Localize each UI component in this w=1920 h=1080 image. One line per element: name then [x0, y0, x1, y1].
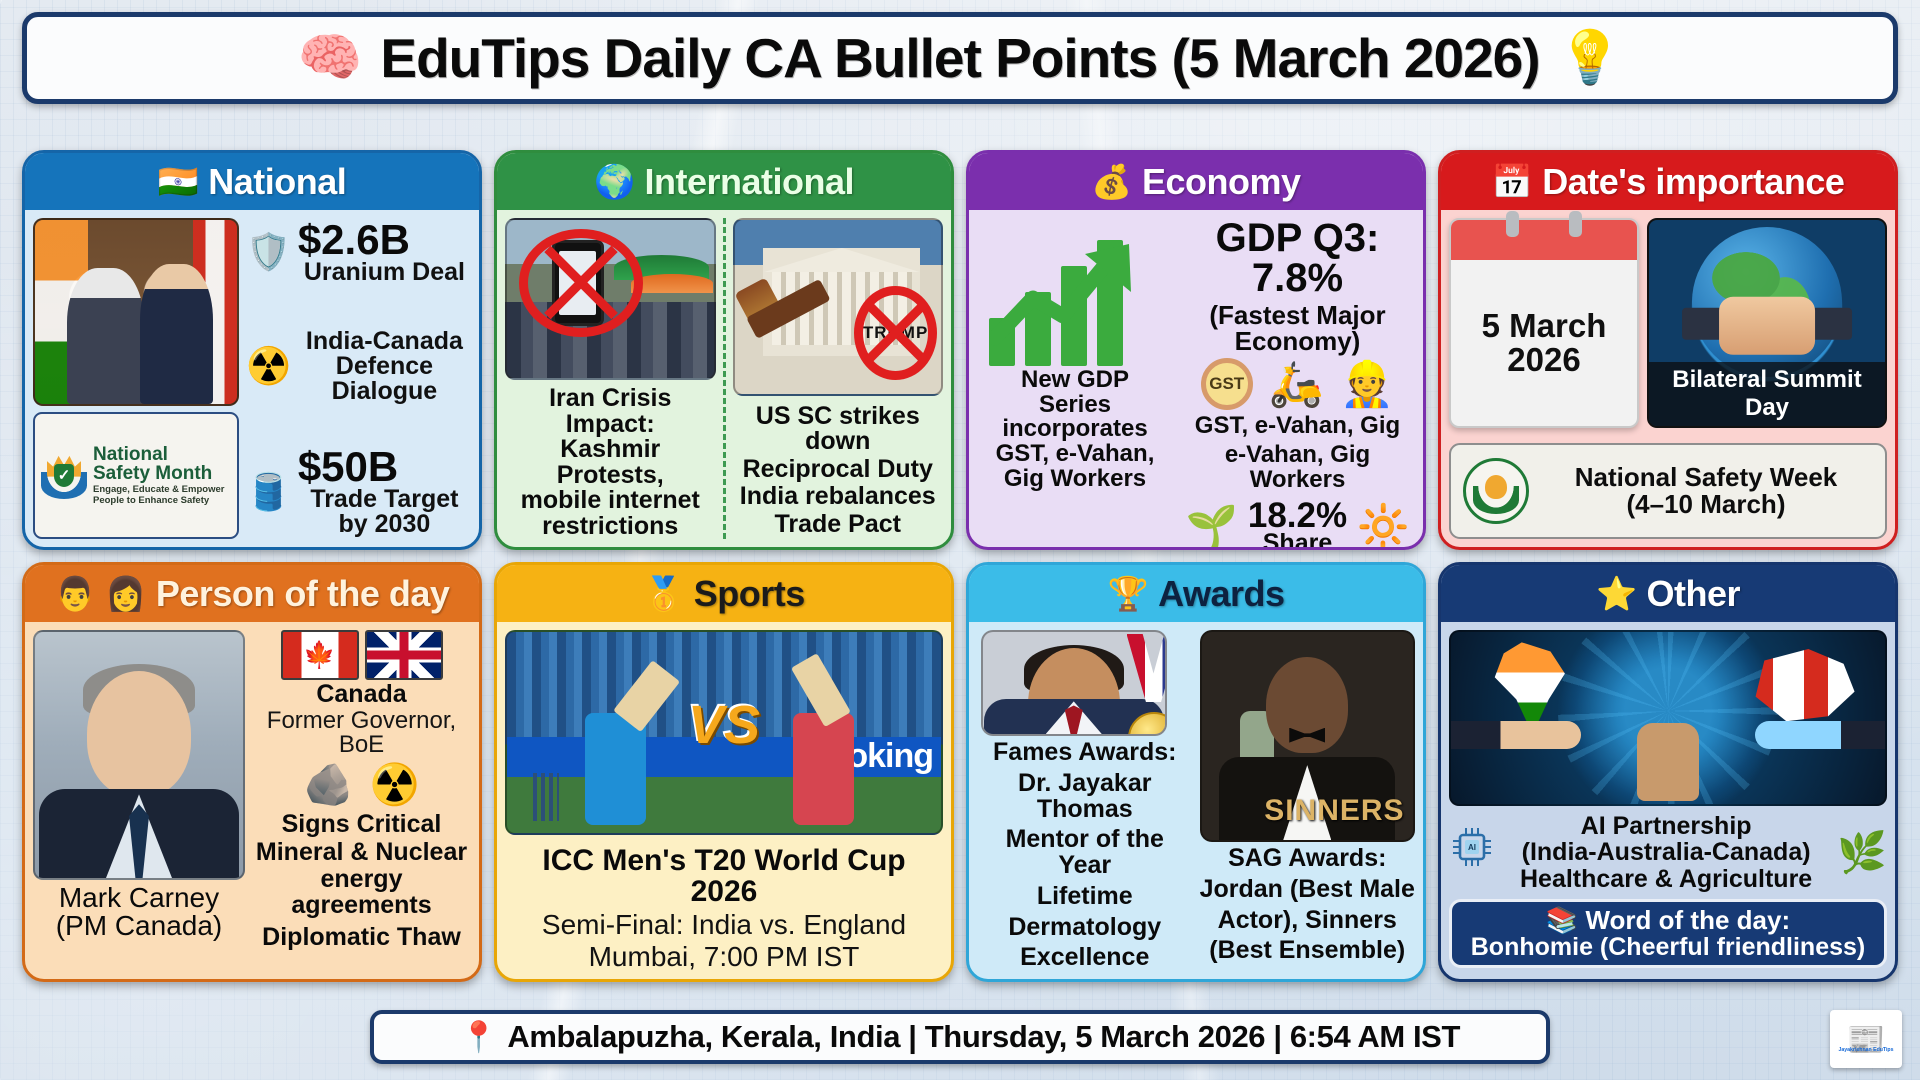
uranium-value: $2.6B	[298, 220, 471, 260]
cards-grid: 🇮🇳 National ✓	[22, 150, 1898, 982]
word-of-day-label: Word of the day:	[1585, 905, 1790, 935]
card-title-date: Date's importance	[1542, 161, 1844, 203]
card-header-sports: 🥇 Sports	[497, 565, 951, 622]
mineral-icon: 🪨	[304, 761, 354, 808]
solar-panel-icon: 🔆	[1357, 503, 1409, 550]
card-body-person: Mark Carney (PM Canada) Canada Former Go…	[25, 622, 479, 979]
card-title-economy: Economy	[1142, 161, 1301, 203]
shield-icon: 🛡️	[246, 234, 291, 270]
trophy-icon: 🏆	[1108, 577, 1149, 610]
brand-logo: 📰 Jayakrishnan EduTips	[1830, 1010, 1902, 1068]
sports-line2: Semi-Final: India vs. England	[505, 910, 943, 939]
person-role: (PM Canada)	[33, 912, 245, 940]
card-title-international: International	[645, 161, 855, 203]
brand-name: Jayakrishnan EduTips	[1839, 1047, 1894, 1053]
national-fact-uranium: 🛡️ $2.6B Uranium Deal	[246, 220, 471, 285]
eco-left-line3: incorporates	[996, 417, 1155, 442]
card-header-economy: 💰 Economy	[969, 153, 1423, 210]
card-date-importance[interactable]: 📅 Date's importance 5 March 2026	[1438, 150, 1898, 550]
word-of-day-value: Bonhomie (Cheerful friendliness)	[1460, 934, 1876, 961]
cards-row-1: 🇮🇳 National ✓	[22, 150, 1898, 550]
economy-left-column: New GDP Series incorporates GST, e-Vahan…	[977, 218, 1173, 539]
international-right-caption: US SC strikes down Reciprocal Duty India…	[733, 402, 944, 539]
cricket-match-photo: Booking VS	[505, 630, 943, 835]
seedling-icon: 🌱	[1186, 503, 1238, 550]
trade-label-2: by 2030	[298, 512, 471, 537]
globe-icon: 🌍	[594, 165, 635, 198]
intl-right-line1: US SC strikes down	[733, 404, 944, 455]
card-body-date: 5 March 2026 Bilateral Summit Day	[1441, 210, 1895, 547]
nuclear-icon: ☢️	[370, 761, 420, 808]
card-awards[interactable]: 🏆 Awards Fames Awards:	[966, 562, 1426, 982]
location-pin-icon: 📍	[460, 1020, 497, 1055]
defence-label-1: India-Canada	[298, 329, 471, 354]
awards-left-caption: Fames Awards: Dr. Jayakar Thomas Mentor …	[977, 740, 1193, 971]
eco-left-line1: New GDP	[996, 368, 1155, 393]
national-safety-month-badge: ✓ National Safety Month Engage, Educate …	[33, 412, 239, 539]
calendar-date-line1: 5 March	[1482, 309, 1607, 343]
calendar-icon: 📅	[1492, 165, 1533, 198]
economy-icons-row: GST 🛵 👷	[1180, 358, 1415, 410]
svg-text:AI: AI	[1468, 843, 1476, 852]
awards-right-l4: (Best Ensemble)	[1200, 938, 1416, 964]
radiation-icon: ☢️	[246, 348, 291, 384]
awards-right-l3: Actor), Sinners	[1200, 908, 1416, 934]
page-title: EduTips Daily CA Bullet Points (5 March …	[380, 26, 1539, 90]
awards-right: SINNERS SAG Awards: Jordan (Best Male Ac…	[1200, 630, 1416, 971]
intl-left-line1: Iran Crisis Impact:	[505, 386, 716, 437]
pipeline-icon: 🛢️	[246, 474, 291, 510]
date-top-row: 5 March 2026 Bilateral Summit Day	[1449, 218, 1887, 428]
word-of-the-day-box: 📚 Word of the day: Bonhomie (Cheerful fr…	[1449, 899, 1887, 968]
national-left-column: ✓ National Safety Month Engage, Educate …	[33, 218, 239, 539]
person-subtitle: Former Governor, BoE	[252, 709, 471, 757]
scooter-icon: 🛵	[1269, 358, 1324, 410]
person-thaw-label: Diplomatic Thaw	[262, 923, 461, 952]
card-title-other: Other	[1647, 573, 1741, 615]
safety-shield-icon: ✓	[41, 453, 87, 499]
trade-label-1: Trade Target	[298, 487, 471, 512]
other-line1: AI Partnership	[1499, 813, 1833, 839]
card-sports[interactable]: 🥇 Sports Booking VS ICC Men's T20 World …	[494, 562, 954, 982]
person-right-column: Canada Former Governor, BoE 🪨 ☢️ Signs C…	[252, 630, 471, 971]
star-icon: ⭐	[1596, 577, 1637, 610]
person-name: Mark Carney	[33, 884, 245, 912]
awards-right-l2: Jordan (Best Male	[1200, 877, 1416, 903]
safety-week-logo-icon	[1463, 458, 1529, 524]
card-title-awards: Awards	[1158, 573, 1284, 615]
gdp-subtext: (Fastest Major Economy)	[1180, 302, 1415, 354]
gig-worker-icon: 👷	[1340, 358, 1395, 410]
jayakar-thomas-portrait	[981, 630, 1167, 736]
canada-flag-icon	[281, 630, 359, 680]
intl-left-line2: Kashmir Protests,	[505, 437, 716, 488]
sinners-label: SINNERS	[1264, 794, 1404, 828]
person-note-line3: energy agreements	[252, 867, 471, 918]
michael-b-jordan-photo: SINNERS	[1200, 630, 1416, 842]
person-icons-row: 🪨 ☢️	[304, 761, 420, 808]
economy-mid-line2: e-Vahan, Gig Workers	[1180, 443, 1415, 493]
national-facts-list: 🛡️ $2.6B Uranium Deal ☢️ India-Canada De…	[246, 218, 471, 539]
person-note-line2: Mineral & Nuclear	[256, 840, 467, 866]
medal-icon: 🥇	[643, 577, 684, 610]
woman-icon: 👩	[105, 577, 146, 610]
other-line2: (India-Australia-Canada)	[1499, 839, 1833, 865]
card-international[interactable]: 🌍 International Iran Crisis Impact:	[494, 150, 954, 550]
card-header-date: 📅 Date's importance	[1441, 153, 1895, 210]
defence-label-2: Defence Dialogue	[298, 354, 471, 404]
international-left-caption: Iran Crisis Impact: Kashmir Protests, mo…	[505, 386, 716, 539]
card-header-awards: 🏆 Awards	[969, 565, 1423, 622]
nsm-line1: National	[93, 444, 168, 465]
growth-chart-icon	[985, 218, 1165, 366]
page-title-bar: 🧠 EduTips Daily CA Bullet Points (5 Marc…	[22, 12, 1898, 104]
card-header-person: 👨 👩 Person of the day	[25, 565, 479, 622]
other-text-row: AI AI Partnership (India-Australia-Canad…	[1449, 813, 1887, 892]
footer-bar: 📍 Ambalapuzha, Kerala, India | Thursday,…	[370, 1010, 1550, 1064]
economy-right-column: GDP Q3: 7.8% (Fastest Major Economy) GST…	[1180, 218, 1415, 539]
india-flag-icon: 🇮🇳	[158, 165, 199, 198]
intl-left-line3: mobile internet	[505, 488, 716, 514]
person-country: Canada	[316, 682, 406, 707]
person-note-line1: Signs Critical	[282, 812, 442, 838]
no-mobile-internet-icon	[519, 229, 643, 336]
money-bag-icon: 💰	[1091, 165, 1132, 198]
modi-carney-photo	[33, 218, 239, 406]
bilateral-summit-photo: Bilateral Summit Day	[1647, 218, 1887, 428]
card-body-economy: New GDP Series incorporates GST, e-Vahan…	[969, 210, 1423, 547]
sports-caption: ICC Men's T20 World Cup 2026 Semi-Final:…	[505, 842, 943, 971]
brain-icon: 🧠	[298, 32, 363, 84]
card-economy[interactable]: 💰 Economy	[966, 150, 1426, 550]
economy-mid-line1: GST, e-Vahan, Gig	[1180, 414, 1415, 439]
awards-left-l4: Lifetime	[977, 884, 1193, 910]
card-other[interactable]: ⭐ Other AI AI Partne	[1438, 562, 1898, 982]
awards-left: Fames Awards: Dr. Jayakar Thomas Mentor …	[977, 630, 1193, 971]
summit-label: Bilateral Summit Day	[1649, 362, 1885, 426]
nsm-tagline2: People to Enhance Safety	[93, 495, 209, 506]
eco-left-line2: Series	[996, 393, 1155, 418]
kashmir-protest-photo	[505, 218, 716, 380]
nsm-line2: Safety Month	[93, 463, 212, 484]
intl-right-line4: Trade Pact	[733, 512, 944, 538]
books-icon: 📚	[1546, 905, 1578, 935]
trump-ban-icon: TRUMP	[854, 286, 937, 380]
intl-left-line4: restrictions	[505, 514, 716, 540]
us-supreme-court-photo: TRUMP	[733, 218, 944, 396]
card-title-person: Person of the day	[156, 573, 450, 615]
person-flags	[281, 630, 443, 680]
awards-left-l2: Dr. Jayakar Thomas	[977, 771, 1193, 823]
intl-right-line2: Reciprocal Duty	[733, 457, 944, 483]
awards-left-l1: Fames Awards:	[977, 740, 1193, 766]
card-body-awards: Fames Awards: Dr. Jayakar Thomas Mentor …	[969, 622, 1423, 979]
economy-bottom-row: 🌱 18.2% Share 🔆	[1180, 499, 1415, 550]
national-fact-trade: 🛢️ $50B Trade Target by 2030	[246, 447, 471, 537]
trade-value: $50B	[298, 447, 471, 487]
sports-line3: Mumbai, 7:00 PM IST	[505, 942, 943, 971]
safety-week-line2: (4–10 March)	[1539, 491, 1873, 518]
international-right: TRUMP US SC strikes down Reciprocal Duty…	[733, 218, 944, 539]
card-body-international: Iran Crisis Impact: Kashmir Protests, mo…	[497, 210, 951, 547]
card-title-sports: Sports	[694, 573, 805, 615]
footer-text: Ambalapuzha, Kerala, India | Thursday, 5…	[507, 1019, 1460, 1055]
national-fact-defence: ☢️ India-Canada Defence Dialogue	[246, 329, 471, 404]
card-person-of-the-day[interactable]: 👨 👩 Person of the day Mark Carney (PM Ca…	[22, 562, 482, 982]
intl-right-line3: India rebalances	[733, 484, 944, 510]
gold-medal-icon	[1119, 634, 1167, 736]
card-header-national: 🇮🇳 National	[25, 153, 479, 210]
card-body-sports: Booking VS ICC Men's T20 World Cup 2026 …	[497, 622, 951, 979]
card-title-national: National	[208, 161, 346, 203]
eco-left-line5: Gig Workers	[996, 467, 1155, 492]
gdp-headline: GDP Q3: 7.8%	[1180, 218, 1415, 298]
calendar-date-line2: 2026	[1482, 343, 1607, 377]
awards-left-l6: Excellence	[977, 945, 1193, 971]
sports-line1: ICC Men's T20 World Cup 2026	[505, 846, 943, 908]
vs-label: VS	[688, 694, 760, 756]
plant-hand-icon: 🌿	[1837, 829, 1887, 876]
uk-flag-icon	[365, 630, 443, 680]
ai-chip-icon: AI	[1449, 824, 1495, 880]
man-icon: 👨	[55, 577, 96, 610]
lightbulb-icon: 💡	[1558, 32, 1623, 84]
card-body-national: ✓ National Safety Month Engage, Educate …	[25, 210, 479, 547]
awards-left-l3: Mentor of the Year	[977, 827, 1193, 879]
awards-right-l1: SAG Awards:	[1200, 846, 1416, 872]
uranium-label: Uranium Deal	[298, 260, 471, 285]
awards-left-l5: Dermatology	[977, 915, 1193, 941]
ai-partnership-photo	[1449, 630, 1887, 806]
awards-right-caption: SAG Awards: Jordan (Best Male Actor), Si…	[1200, 846, 1416, 971]
up-arrow-icon	[989, 240, 1139, 352]
infographic-page: 🧠 EduTips Daily CA Bullet Points (5 Marc…	[0, 0, 1920, 1080]
international-left: Iran Crisis Impact: Kashmir Protests, mo…	[505, 218, 726, 539]
card-header-other: ⭐ Other	[1441, 565, 1895, 622]
safety-week-line1: National Safety Week	[1539, 464, 1873, 491]
gst-badge-icon: GST	[1201, 358, 1253, 410]
eco-left-line4: GST, e-Vahan,	[996, 442, 1155, 467]
nsm-tagline1: Engage, Educate & Empower	[93, 484, 224, 495]
mark-carney-portrait	[33, 630, 245, 880]
date-calendar: 5 March 2026	[1449, 218, 1639, 428]
card-header-international: 🌍 International	[497, 153, 951, 210]
person-left-column: Mark Carney (PM Canada)	[33, 630, 245, 971]
card-national[interactable]: 🇮🇳 National ✓	[22, 150, 482, 550]
other-line3: Healthcare & Agriculture	[1499, 866, 1833, 892]
cards-row-2: 👨 👩 Person of the day Mark Carney (PM Ca…	[22, 562, 1898, 982]
national-safety-week-badge: National Safety Week (4–10 March)	[1449, 443, 1887, 539]
card-body-other: AI AI Partnership (India-Australia-Canad…	[1441, 622, 1895, 979]
